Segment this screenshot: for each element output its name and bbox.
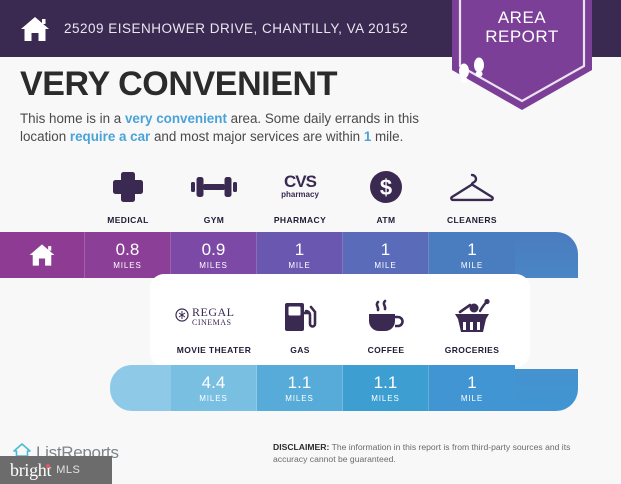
distance-value: 0.8	[116, 241, 140, 259]
page-title: VERY CONVENIENT	[20, 65, 337, 104]
page-description: This home is in a very convenient area. …	[20, 110, 450, 146]
badge-text: AREA REPORT	[452, 8, 592, 46]
mls-wordmark: MLS	[56, 464, 80, 476]
property-address: 25209 EISENHOWER DRIVE, CHANTILLY, VA 20…	[64, 21, 408, 36]
svg-text:CINEMAS: CINEMAS	[192, 318, 232, 327]
distance-value: 1	[295, 241, 304, 259]
distance-value: 0.9	[202, 241, 226, 259]
description-text: This home is in a	[20, 111, 125, 126]
gas-pump-icon	[282, 296, 318, 338]
row1-home-cell	[0, 232, 85, 278]
svg-text:pharmacy: pharmacy	[281, 190, 319, 199]
dollar-circle-icon: $	[369, 166, 403, 208]
page-footer: ListReports bright MLS DISCLAIMER: The i…	[0, 430, 621, 480]
icon-cell-atm: $ ATM	[343, 166, 429, 225]
distance-unit: MILES	[199, 394, 228, 403]
distance-unit: MILE	[288, 261, 310, 270]
icon-cell-gas: GAS	[257, 296, 343, 355]
row2-distance-bar: 4.4MILES1.1MILES1.1MILES1MILE	[110, 365, 578, 411]
distance-cell: 0.9MILES	[171, 232, 257, 278]
home-icon	[18, 12, 52, 46]
icon-label: GROCERIES	[445, 345, 500, 355]
dumbbell-icon	[191, 166, 237, 208]
regal-cinemas-logo-icon: REGAL CINEMAS	[172, 296, 256, 338]
row2-lead-cell	[110, 365, 171, 411]
icon-label: COFFEE	[368, 345, 405, 355]
distance-value: 1.1	[374, 374, 398, 392]
distance-cell: 1.1MILES	[257, 365, 343, 411]
icon-label: GAS	[290, 345, 310, 355]
distance-value: 1	[467, 374, 476, 392]
distance-value: 4.4	[202, 374, 226, 392]
icon-label: PHARMACY	[274, 215, 326, 225]
distance-cell: 1MILE	[429, 232, 515, 278]
grocery-basket-icon	[452, 296, 492, 338]
distance-unit: MILES	[199, 261, 228, 270]
disclaimer: DISCLAIMER: The information in this repo…	[273, 442, 603, 465]
svg-text:CVS: CVS	[284, 172, 317, 191]
svg-text:$: $	[380, 175, 392, 200]
icon-cell-cleaners: CLEANERS	[429, 166, 515, 225]
bright-wordmark: bright	[10, 460, 51, 481]
icon-cell-medical: MEDICAL	[85, 166, 171, 225]
distance-value: 1	[381, 241, 390, 259]
badge-line-2: REPORT	[452, 27, 592, 46]
medical-cross-icon	[111, 166, 145, 208]
distance-cell: 1MILE	[429, 365, 515, 411]
distance-cell: 1.1MILES	[343, 365, 429, 411]
svg-text:REGAL: REGAL	[192, 305, 235, 319]
row1-icon-strip: MEDICAL GYM CVS pharmacy PH	[85, 166, 515, 225]
badge-line-1: AREA	[452, 8, 592, 27]
disclaimer-label: DISCLAIMER:	[273, 442, 329, 452]
description-highlight: require a car	[70, 129, 150, 144]
description-text: mile.	[371, 129, 403, 144]
icon-label: ATM	[377, 215, 396, 225]
row2-icon-strip: REGAL CINEMAS MOVIE THEATER GAS	[171, 296, 515, 355]
distance-cell: 1MILE	[343, 232, 429, 278]
icon-label: CLEANERS	[447, 215, 497, 225]
icon-cell-pharmacy: CVS pharmacy PHARMACY	[257, 166, 343, 225]
distance-unit: MILES	[113, 261, 142, 270]
icon-cell-coffee: COFFEE	[343, 296, 429, 355]
coffee-cup-icon	[365, 296, 407, 338]
cvs-pharmacy-logo-icon: CVS pharmacy	[274, 166, 326, 208]
distance-cell: 1MILE	[257, 232, 343, 278]
icon-cell-gym: GYM	[171, 166, 257, 225]
distance-value: 1.1	[288, 374, 312, 392]
icon-cell-movie-theater: REGAL CINEMAS MOVIE THEATER	[171, 296, 257, 355]
area-report-page: 25209 EISENHOWER DRIVE, CHANTILLY, VA 20…	[0, 0, 621, 480]
icon-label: MEDICAL	[107, 215, 149, 225]
row1-distance-bar: 0.8MILES0.9MILES1MILE1MILE1MILE	[0, 232, 578, 278]
distance-cell: 0.8MILES	[85, 232, 171, 278]
icon-cell-groceries: GROCERIES	[429, 296, 515, 355]
description-text: and most major services are within	[150, 129, 364, 144]
clothes-hanger-icon	[448, 166, 496, 208]
distance-unit: MILE	[461, 394, 483, 403]
distance-unit: MILE	[461, 261, 483, 270]
distance-unit: MILES	[285, 394, 314, 403]
footprints-icon	[452, 54, 592, 84]
distance-unit: MILES	[371, 394, 400, 403]
home-icon	[27, 240, 57, 270]
area-report-badge: AREA REPORT	[452, 0, 592, 110]
icon-label: GYM	[204, 215, 225, 225]
distance-value: 1	[467, 241, 476, 259]
icon-label: MOVIE THEATER	[177, 345, 251, 355]
description-highlight: very convenient	[125, 111, 227, 126]
distance-cell: 4.4MILES	[171, 365, 257, 411]
distance-unit: MILE	[374, 261, 396, 270]
